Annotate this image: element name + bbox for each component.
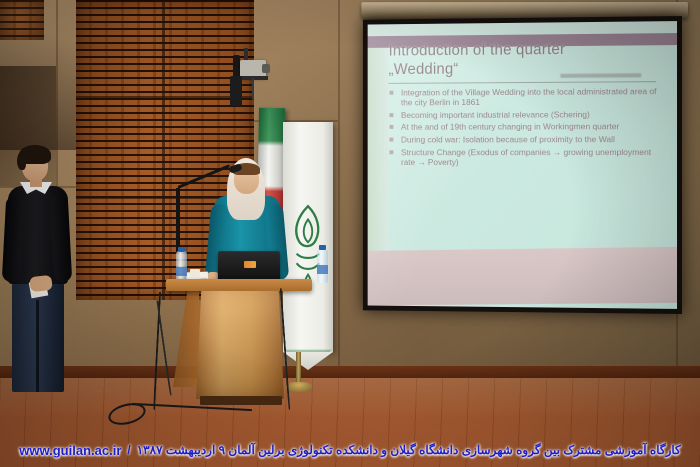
floor-reflection xyxy=(0,378,700,418)
screenshot-root: Introduction of the quarter „Wedding“ In… xyxy=(0,0,700,467)
microphone-stand xyxy=(176,188,180,252)
laptop-logo xyxy=(244,261,256,268)
bullet-square-icon xyxy=(390,125,394,129)
bottle-label xyxy=(317,265,328,274)
slide-bullet-list: Integration of the Village Wedding into … xyxy=(389,87,667,167)
caption-website-url: www.guilan.ac.ir xyxy=(19,443,121,458)
man-hair-side xyxy=(17,152,26,170)
caption-bar: کارگاه آموزشی مشترک بین گروه شهرسازی دان… xyxy=(0,433,700,467)
podium xyxy=(196,291,284,399)
list-item: During cold war: Isolation because of pr… xyxy=(389,135,667,145)
slide-title-line1: Introduction of the quarter xyxy=(389,39,667,60)
bullet-square-icon xyxy=(390,113,394,117)
bullet-text: At the and of 19th century changing in W… xyxy=(401,122,619,133)
podium-top xyxy=(166,279,312,291)
projector-housing xyxy=(230,76,242,106)
projector-wire xyxy=(252,78,254,100)
presentation-slide: Introduction of the quarter „Wedding“ In… xyxy=(368,33,677,309)
bullet-square-icon xyxy=(390,91,394,95)
list-item: Integration of the Village Wedding into … xyxy=(389,87,667,108)
slide-footer-band xyxy=(368,247,677,306)
bottle-cap xyxy=(319,245,326,250)
roller-knob xyxy=(648,7,662,11)
caption-separator: / xyxy=(127,443,130,457)
bullet-text: During cold war: Isolation because of pr… xyxy=(401,134,615,144)
caption-persian-text: کارگاه آموزشی مشترک بین گروه شهرسازی دان… xyxy=(137,443,681,457)
man-leg-split xyxy=(36,300,39,392)
wall-seam xyxy=(338,0,340,378)
bottle-cap xyxy=(178,247,185,252)
bullet-square-icon xyxy=(390,150,394,154)
podium-foot xyxy=(200,396,282,405)
projector-lens xyxy=(262,64,270,73)
laptop-screen[interactable] xyxy=(218,251,280,281)
man-hands xyxy=(29,275,52,292)
bullet-text: Structure Change (Exodus of companies → … xyxy=(401,147,651,167)
list-item: Structure Change (Exodus of companies → … xyxy=(389,148,667,168)
flag-pole xyxy=(296,352,301,386)
organization-banner xyxy=(283,122,333,352)
slide-smudge xyxy=(560,73,641,78)
acoustic-slat-panel-small xyxy=(0,0,44,40)
slide-title-divider xyxy=(389,81,656,84)
list-item: At the and of 19th century changing in W… xyxy=(389,122,667,132)
cup xyxy=(190,269,200,278)
flag-base xyxy=(286,382,312,392)
bottle-label xyxy=(176,267,187,276)
list-item: Becoming important industrial relevance … xyxy=(389,110,667,121)
slide-content: Introduction of the quarter „Wedding“ In… xyxy=(389,39,667,170)
bullet-square-icon xyxy=(390,138,394,142)
bullet-text: Integration of the Village Wedding into … xyxy=(401,86,657,107)
projection-screen: Introduction of the quarter „Wedding“ In… xyxy=(363,16,682,314)
water-bottle-right xyxy=(317,249,328,283)
slat-panel-divider xyxy=(76,96,254,99)
slat-panel-divider xyxy=(162,0,165,300)
bullet-text: Becoming important industrial relevance … xyxy=(401,109,590,120)
